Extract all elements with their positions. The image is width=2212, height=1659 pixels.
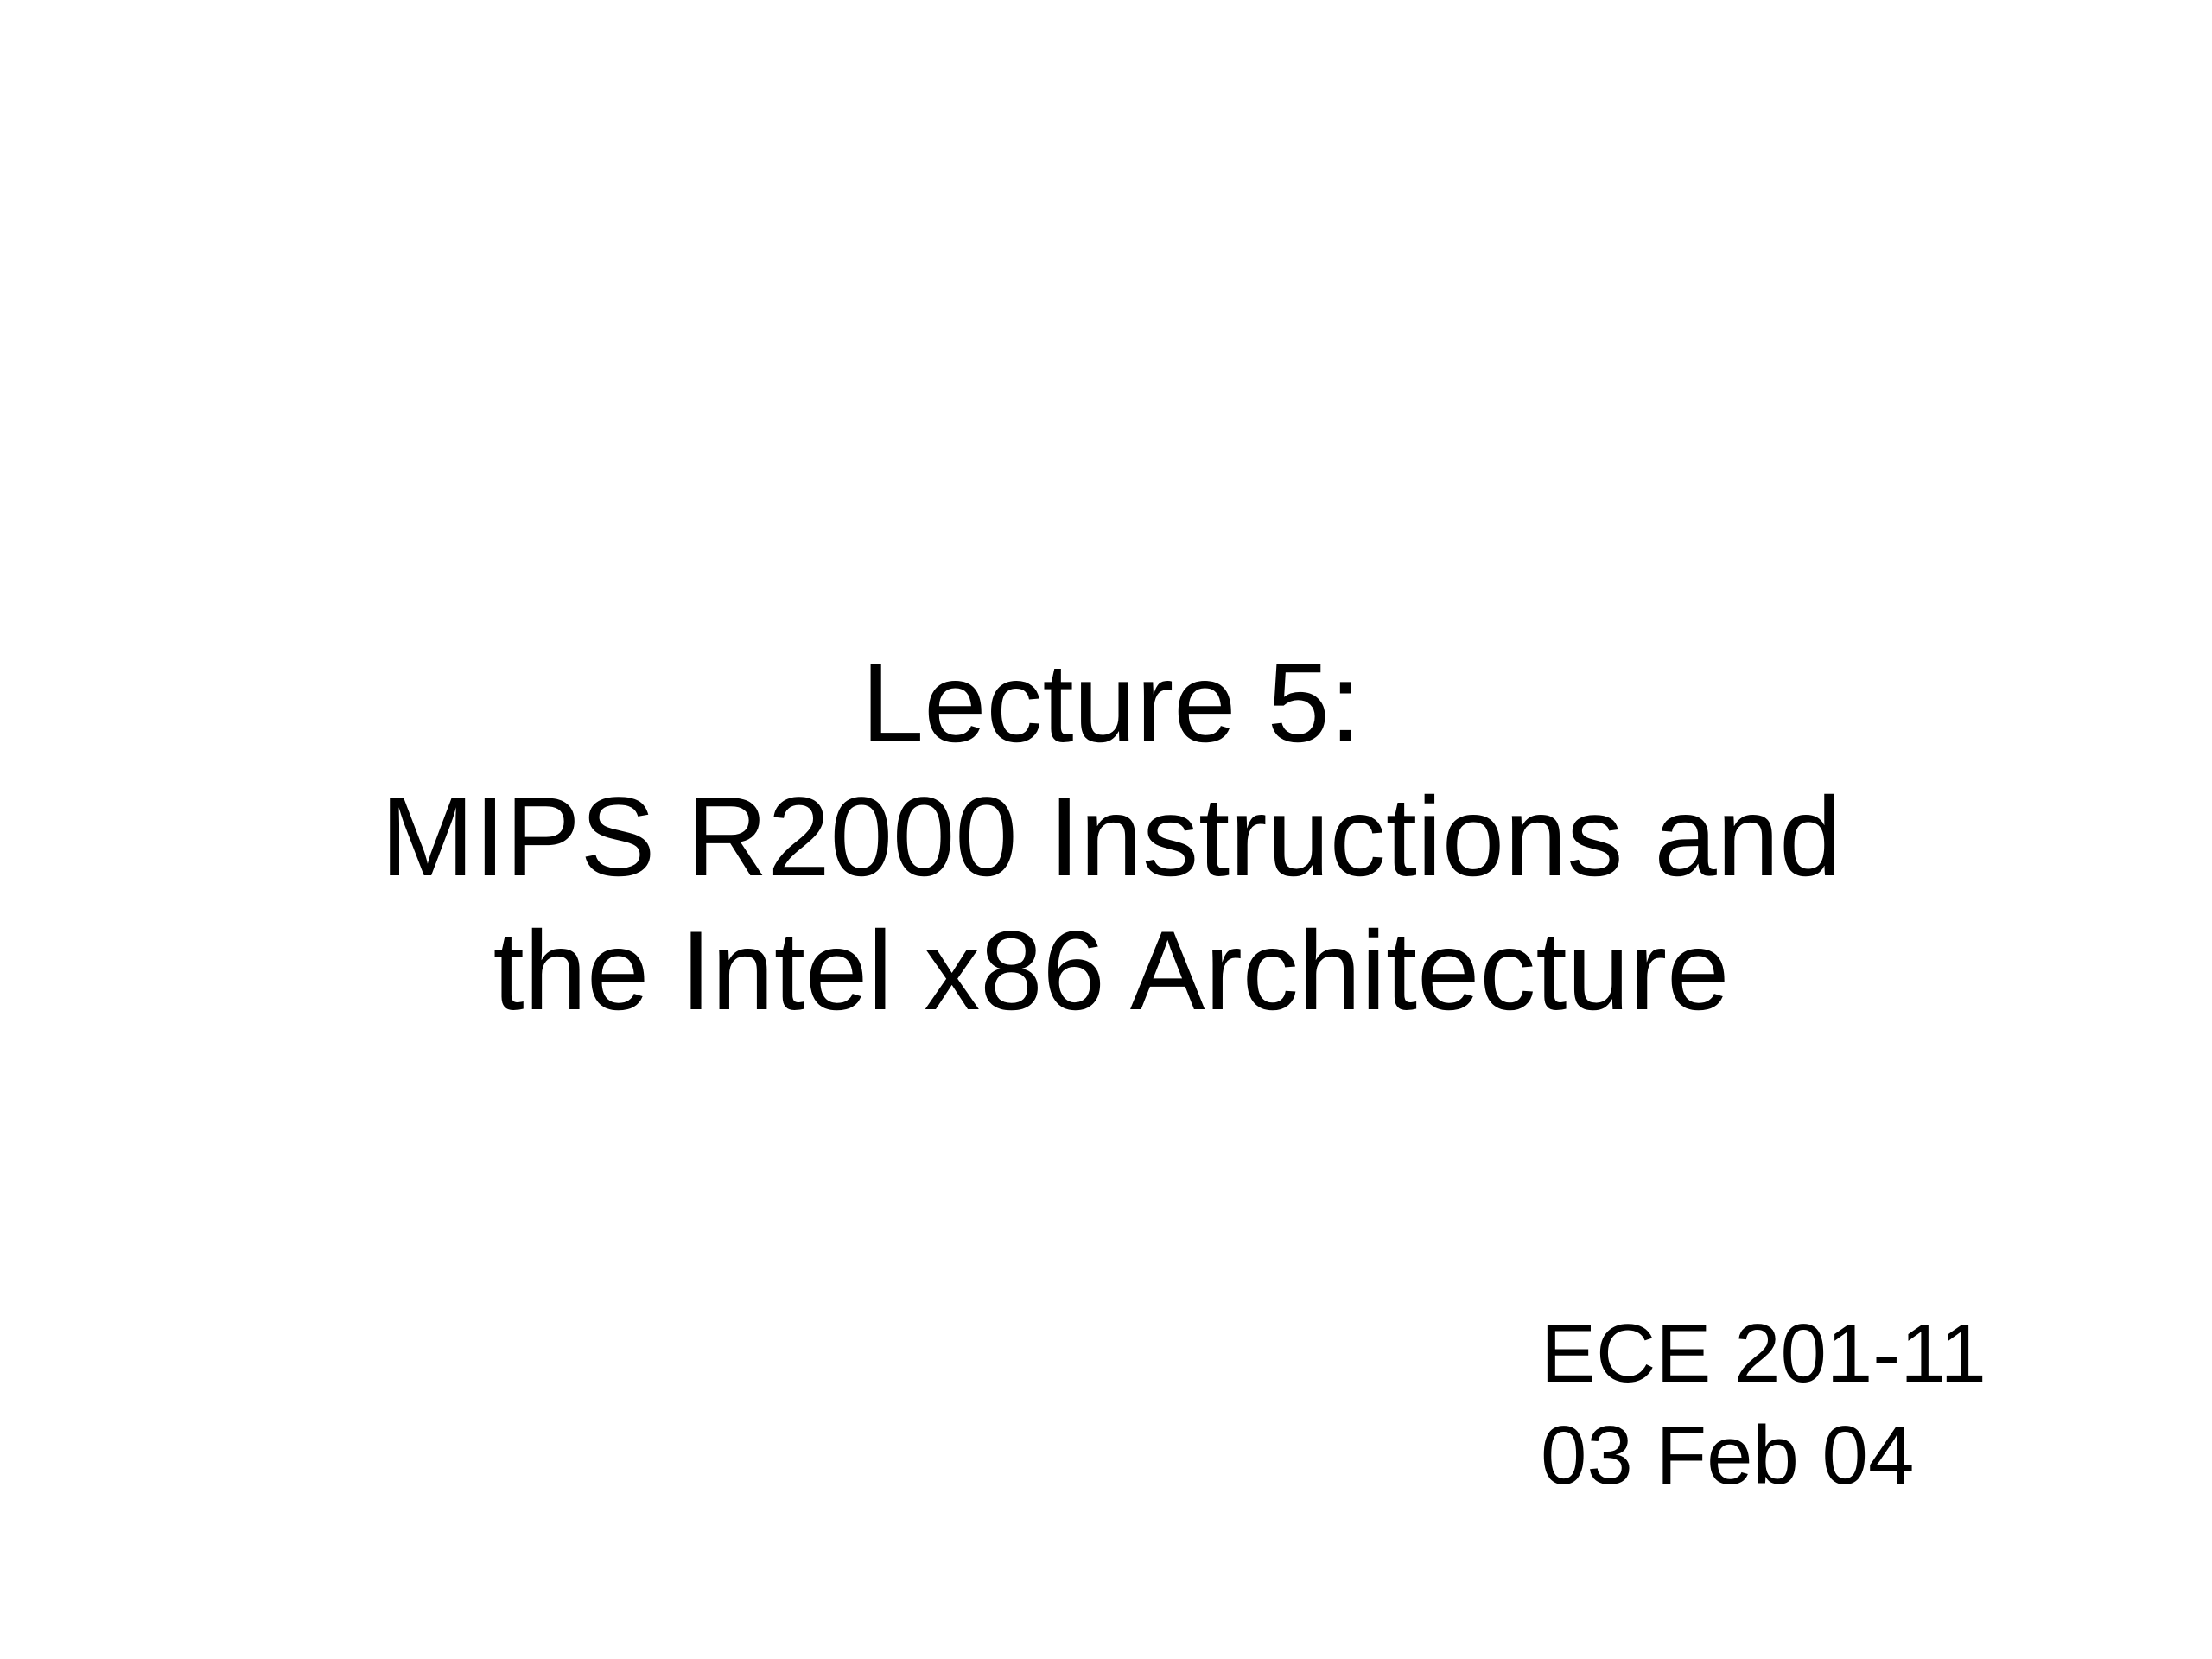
- lecture-date: 03 Feb 04: [1541, 1405, 1986, 1507]
- course-code: ECE 201-11: [1541, 1303, 1986, 1405]
- slide-subtitle-block: ECE 201-11 03 Feb 04: [1541, 1303, 1986, 1507]
- presentation-slide: Lecture 5: MIPS R2000 Instructions and t…: [0, 0, 2212, 1659]
- title-line-2: MIPS R2000 Instructions and: [0, 770, 2212, 904]
- title-line-1: Lecture 5:: [0, 636, 2212, 770]
- slide-title: Lecture 5: MIPS R2000 Instructions and t…: [0, 636, 2212, 1038]
- title-line-3: the Intel x86 Architecture: [0, 904, 2212, 1038]
